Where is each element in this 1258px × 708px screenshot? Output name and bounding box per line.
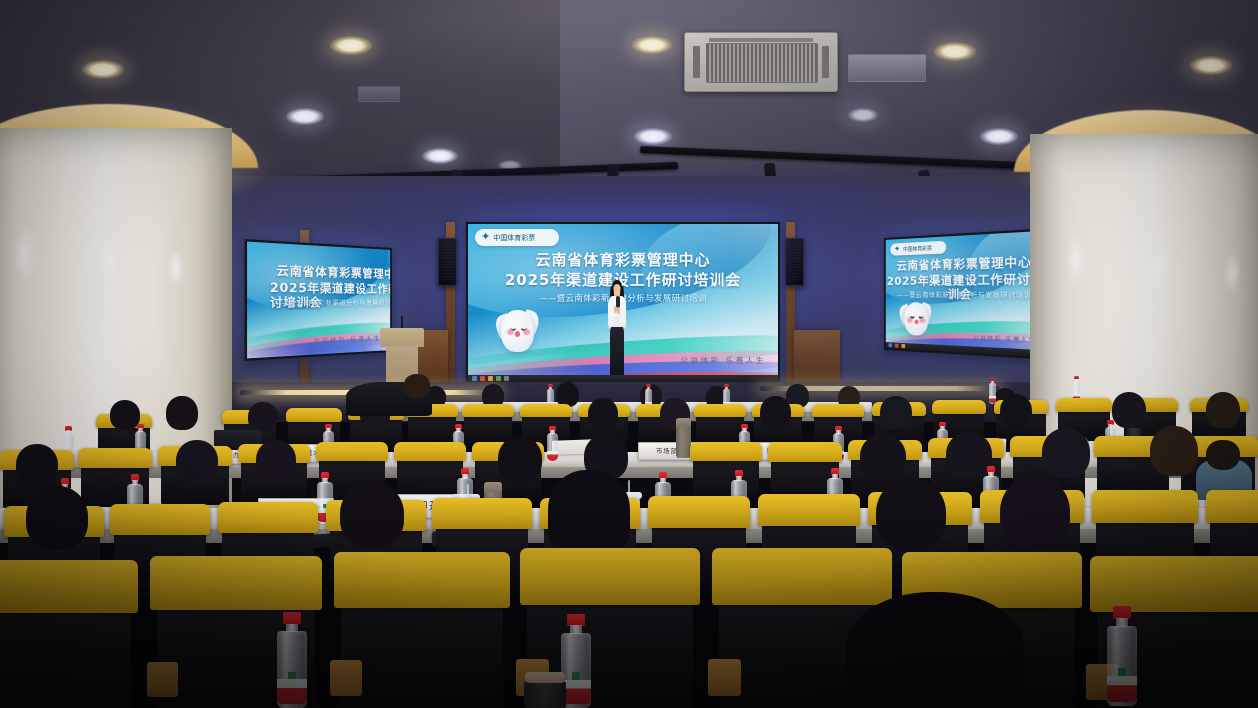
left-side-display[interactable]: 云南省体育彩票管理中心 2025年渠道建设工作研讨培训会 ——暨云南体彩新渠道分… bbox=[245, 239, 392, 361]
pillar-highlight bbox=[14, 224, 36, 284]
audience-person bbox=[548, 470, 630, 556]
person-head bbox=[1112, 392, 1146, 428]
ceiling-downlight bbox=[82, 60, 124, 79]
pillar-highlight bbox=[168, 248, 184, 288]
conference-hall-photo: ✦ 中国体育彩票 云南省体育彩票管理中心 2025年渠道建设工作研讨培训会 ——… bbox=[0, 0, 1258, 708]
chair-headrest bbox=[932, 400, 986, 414]
ceiling-downlight bbox=[330, 36, 372, 55]
ceiling-vent bbox=[848, 54, 926, 82]
slide-content: ✦ 中国体育彩票 云南省体育彩票管理中心 2025年渠道建设工作研讨培训会 ——… bbox=[886, 231, 1046, 358]
audience-person bbox=[1150, 426, 1198, 476]
taskbar-icon bbox=[895, 344, 899, 348]
mascot-mouth bbox=[914, 319, 918, 324]
audience-person bbox=[1112, 392, 1146, 428]
ceiling-downlight bbox=[848, 108, 878, 122]
stage-speaker bbox=[438, 238, 457, 286]
taskbar-icon bbox=[496, 376, 501, 381]
auditorium-chair[interactable] bbox=[334, 552, 510, 708]
ceiling-ac-cassette bbox=[684, 32, 838, 92]
ceiling-downlight bbox=[286, 108, 324, 125]
taskbar-icon bbox=[504, 376, 509, 381]
audience-person bbox=[26, 486, 88, 550]
presenter-hand bbox=[617, 307, 620, 314]
presenter-legs bbox=[610, 327, 624, 380]
ac-slot bbox=[822, 46, 829, 78]
person-head bbox=[16, 444, 58, 486]
audience-person bbox=[1000, 476, 1070, 550]
stage-speaker bbox=[785, 238, 804, 286]
chair-headrest bbox=[150, 556, 322, 610]
water-bottle bbox=[1104, 606, 1140, 706]
slide-footer-slogan: 公益体彩 乐善人生 bbox=[681, 355, 766, 366]
chair-headrest bbox=[694, 404, 746, 417]
person-head bbox=[1042, 428, 1090, 478]
bottle-label-emblem bbox=[288, 672, 297, 680]
audience-person bbox=[166, 396, 198, 430]
chair-headrest bbox=[110, 504, 210, 535]
ceiling-downlight bbox=[1190, 56, 1232, 75]
pillar-highlight bbox=[1150, 242, 1168, 290]
chair-headrest bbox=[812, 404, 864, 417]
chair-headrest bbox=[768, 442, 842, 462]
ceiling-downlight bbox=[632, 36, 672, 54]
person-head bbox=[860, 434, 906, 480]
audience-person bbox=[846, 592, 1024, 708]
water-bottle bbox=[274, 612, 310, 708]
ac-grille bbox=[706, 43, 817, 82]
person-head bbox=[588, 398, 618, 430]
chair-headrest bbox=[78, 448, 152, 468]
jar-lid bbox=[525, 672, 565, 683]
water-bottle bbox=[546, 426, 559, 462]
person-head bbox=[548, 470, 630, 556]
ac-bar bbox=[709, 38, 812, 42]
chair-headrest bbox=[334, 552, 510, 608]
audience-person bbox=[1000, 394, 1032, 428]
chair-armrest bbox=[147, 662, 178, 697]
presenter-arm bbox=[621, 302, 625, 326]
sports-lottery-logo-icon: ✦ bbox=[481, 232, 490, 243]
chair-headrest bbox=[316, 442, 388, 461]
bottle-label bbox=[547, 451, 558, 460]
auditorium-chair[interactable] bbox=[690, 442, 762, 498]
chair-headrest bbox=[648, 496, 750, 528]
person-head bbox=[498, 436, 542, 482]
person-head bbox=[1150, 426, 1198, 476]
audience-person bbox=[760, 396, 791, 429]
person-head bbox=[1206, 440, 1240, 470]
audience-person bbox=[248, 402, 278, 432]
thermos-flask bbox=[676, 418, 691, 458]
thermos-flask bbox=[524, 672, 566, 708]
chair-headrest bbox=[520, 404, 572, 417]
audience-person bbox=[1042, 428, 1090, 478]
person-head bbox=[760, 396, 791, 429]
projector-taskbar bbox=[468, 375, 778, 382]
audience-person bbox=[498, 436, 542, 482]
slide-title-line-1: 云南省体育彩票管理中心 bbox=[276, 264, 390, 282]
person-head bbox=[26, 486, 88, 550]
sports-lottery-logo-text: 中国体育彩票 bbox=[903, 244, 932, 253]
person-head bbox=[166, 396, 198, 430]
pillar-highlight bbox=[1224, 252, 1240, 294]
audience-person bbox=[876, 478, 946, 550]
audience-person bbox=[588, 398, 618, 430]
chair-headrest bbox=[690, 442, 762, 461]
name-card-text: 市场部 bbox=[656, 446, 678, 455]
thermos-cap bbox=[676, 418, 691, 427]
sports-lottery-logo: ✦ 中国体育彩票 bbox=[475, 229, 559, 246]
lottery-mascot-icon bbox=[494, 300, 540, 356]
chair-headrest bbox=[462, 404, 514, 417]
standing-staff-person bbox=[346, 374, 432, 416]
chair-headrest bbox=[286, 408, 342, 422]
ceiling-vent bbox=[358, 86, 400, 102]
bottle-label bbox=[1107, 676, 1137, 702]
chair-headrest bbox=[1206, 490, 1258, 523]
main-presentation-screen[interactable]: ✦ 中国体育彩票 云南省体育彩票管理中心 2025年渠道建设工作研讨培训会 ——… bbox=[466, 222, 780, 384]
sports-lottery-logo-icon: ✦ bbox=[894, 245, 900, 253]
audience-person bbox=[176, 440, 218, 482]
audience-person bbox=[1206, 392, 1240, 428]
taskbar-icon bbox=[472, 376, 477, 381]
person-head bbox=[340, 482, 404, 548]
person-head bbox=[880, 396, 912, 429]
chair-headrest bbox=[432, 498, 532, 529]
mascot-cheek bbox=[907, 317, 912, 322]
person-head bbox=[876, 478, 946, 550]
person-head bbox=[404, 374, 430, 398]
person-head bbox=[1000, 476, 1070, 550]
taskbar-icon bbox=[889, 343, 893, 347]
chair-armrest bbox=[330, 660, 362, 696]
person-head bbox=[846, 592, 1024, 708]
chair-headrest bbox=[1056, 398, 1112, 412]
chair-headrest bbox=[758, 494, 860, 526]
slide-content: ✦ 中国体育彩票 云南省体育彩票管理中心 2025年渠道建设工作研讨培训会 ——… bbox=[468, 224, 778, 382]
bottle-label-emblem bbox=[572, 672, 581, 680]
chair-headrest bbox=[0, 560, 138, 613]
chair-headrest bbox=[520, 548, 700, 605]
person-head bbox=[1206, 392, 1240, 428]
presenter-on-stage bbox=[600, 280, 634, 380]
chair-armrest bbox=[708, 659, 740, 696]
chair-headrest bbox=[1090, 556, 1258, 612]
audience-person bbox=[860, 434, 906, 480]
right-side-display[interactable]: ✦ 中国体育彩票 云南省体育彩票管理中心 2025年渠道建设工作研讨培训会 ——… bbox=[884, 228, 1049, 360]
pillar-highlight bbox=[1066, 232, 1086, 288]
slide-subtitle: ——暨云南体彩新渠道分析与发展研讨培训 bbox=[886, 292, 1046, 301]
bottle-label-emblem bbox=[1118, 668, 1127, 676]
pillar-highlight bbox=[100, 238, 118, 284]
chair-headrest bbox=[394, 442, 466, 461]
person-head bbox=[248, 402, 278, 432]
taskbar-icon bbox=[901, 344, 905, 348]
audience-person bbox=[256, 440, 296, 480]
chair-headrest bbox=[218, 502, 318, 533]
taskbar-icon bbox=[488, 376, 493, 381]
ceiling-downlight bbox=[634, 128, 672, 145]
slide-subtitle: ——暨云南体彩新渠道分析与发展研讨培训 bbox=[273, 300, 390, 309]
person-head bbox=[256, 440, 296, 480]
sports-lottery-logo: ✦ 中国体育彩票 bbox=[890, 241, 946, 256]
ceiling-downlight bbox=[934, 42, 976, 61]
person-head bbox=[176, 440, 218, 482]
lectern-top bbox=[380, 328, 424, 347]
auditorium-chair[interactable] bbox=[0, 560, 138, 708]
jar-body bbox=[524, 681, 566, 708]
ac-slot bbox=[693, 46, 700, 78]
taskbar-icon bbox=[480, 376, 485, 381]
person-head bbox=[1000, 394, 1032, 428]
slide-content: 云南省体育彩票管理中心 2025年渠道建设工作研讨培训会 ——暨云南体彩新渠道分… bbox=[247, 242, 390, 359]
wall-wood-trim bbox=[794, 330, 840, 390]
sports-lottery-logo-text: 中国体育彩票 bbox=[493, 233, 535, 243]
audience-person bbox=[340, 482, 404, 548]
bottle-label bbox=[277, 679, 307, 704]
audience-person bbox=[880, 396, 912, 429]
mascot-cheek bbox=[920, 318, 926, 323]
chair-headrest bbox=[1092, 490, 1198, 523]
audience-person bbox=[16, 444, 58, 486]
presenter-arm bbox=[609, 302, 613, 326]
slide-title-line-1: 云南省体育彩票管理中心 bbox=[468, 251, 778, 269]
thermos-cap bbox=[484, 482, 502, 492]
